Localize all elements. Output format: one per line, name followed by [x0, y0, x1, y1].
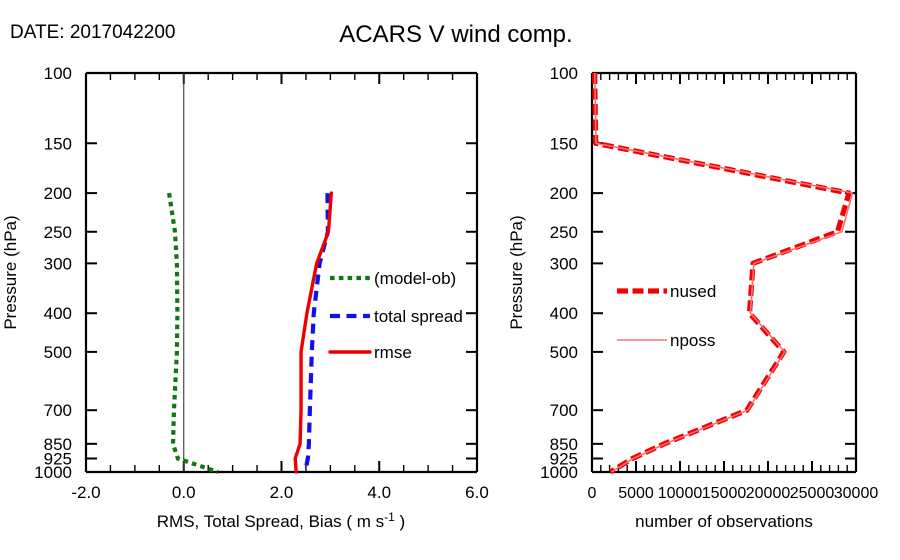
y-tick-label: 150 [44, 134, 72, 153]
legend-label: nposs [670, 331, 715, 350]
legend-label: rmse [374, 343, 412, 362]
y-tick-label: 200 [550, 184, 578, 203]
y-axis-label: Pressure (hPa) [507, 215, 526, 329]
y-tick-label: 200 [44, 184, 72, 203]
x-tick-label: 20000 [746, 485, 791, 502]
x-tick-label: 5000 [618, 485, 654, 502]
legend-label: nused [670, 282, 716, 301]
acars-wind-figure: DATE: 2017042200 ACARS V wind comp. -2.0… [0, 0, 900, 560]
x-tick-label: -2.0 [71, 483, 100, 502]
y-tick-label: 400 [44, 304, 72, 323]
y-tick-label: 300 [550, 254, 578, 273]
x-axis-label-superscript: -1 [384, 510, 395, 524]
y-tick-label: 100 [44, 64, 72, 83]
x-tick-label: 6.0 [465, 483, 489, 502]
x-axis-label-pre: RMS, Total Spread, Bias ( m s [157, 512, 384, 531]
legend-label: total spread [374, 307, 463, 326]
y-tick-label: 100 [550, 64, 578, 83]
y-tick-label: 1000 [34, 463, 72, 482]
x-tick-label: 4.0 [367, 483, 391, 502]
y-axis-label: Pressure (hPa) [1, 215, 20, 329]
y-tick-label: 1000 [540, 463, 578, 482]
x-axis-label-post: ) [395, 512, 405, 531]
x-tick-label: 2.0 [270, 483, 294, 502]
x-tick-label: 10000 [658, 485, 703, 502]
x-tick-label: 15000 [702, 485, 747, 502]
x-tick-label: 0 [588, 485, 597, 502]
legend-label: (model-ob) [374, 269, 456, 288]
y-tick-label: 250 [550, 223, 578, 242]
x-axis-label: RMS, Total Spread, Bias ( m s-1 ) [157, 510, 405, 531]
figure-title: ACARS V wind comp. [339, 21, 572, 48]
x-tick-label: 30000 [834, 485, 879, 502]
date-label: DATE: 2017042200 [10, 22, 176, 43]
y-tick-label: 400 [550, 304, 578, 323]
x-tick-label: 0.0 [172, 483, 196, 502]
y-tick-label: 300 [44, 254, 72, 273]
y-tick-label: 250 [44, 223, 72, 242]
y-tick-label: 700 [550, 401, 578, 420]
y-tick-label: 500 [550, 343, 578, 362]
x-tick-label: 25000 [790, 485, 835, 502]
y-tick-label: 700 [44, 401, 72, 420]
y-tick-label: 150 [550, 134, 578, 153]
y-tick-label: 500 [44, 343, 72, 362]
x-axis-label: number of observations [635, 512, 813, 531]
